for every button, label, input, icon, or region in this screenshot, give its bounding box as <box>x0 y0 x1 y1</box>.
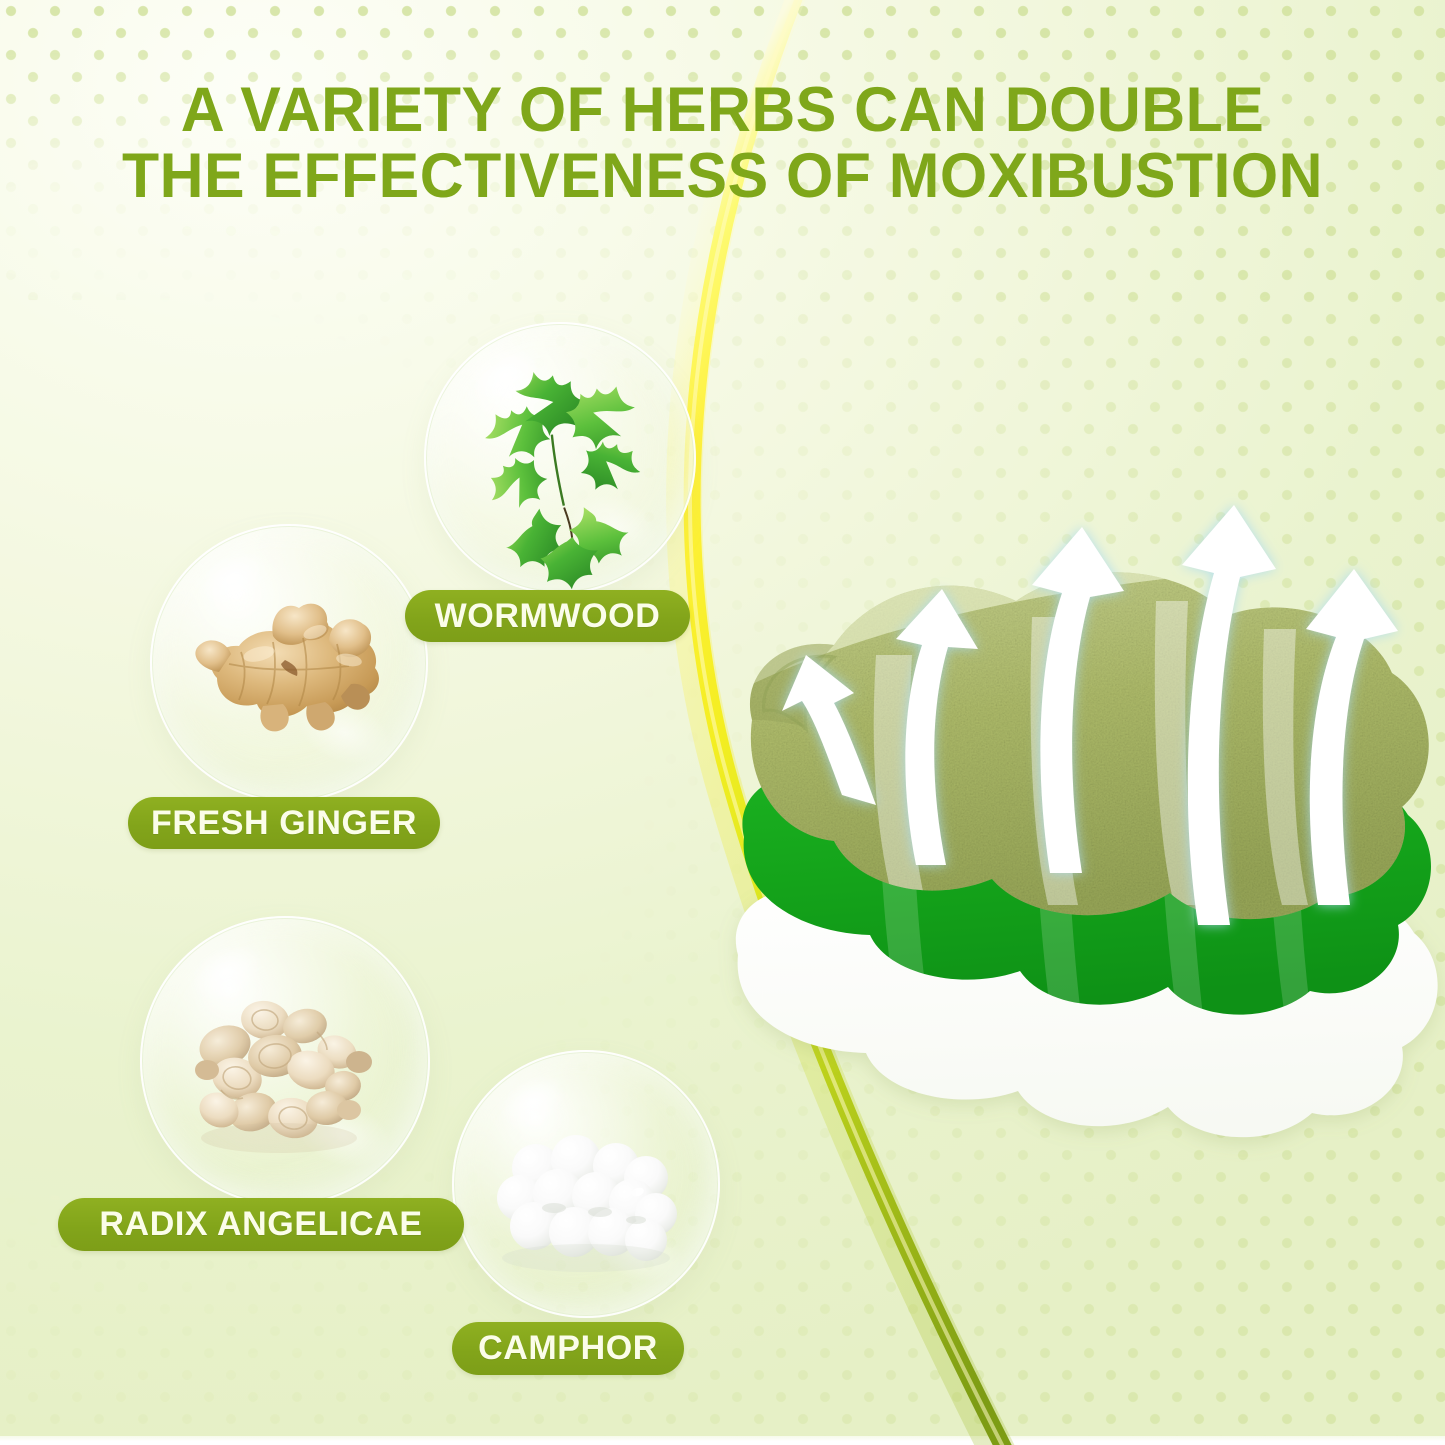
bottom-edge-strip <box>0 1436 1445 1445</box>
bubble-rim <box>424 322 696 594</box>
moxibustion-patch-illustration <box>730 505 1445 1105</box>
poster-canvas: A VARIETY OF HERBS CAN DOUBLE THE EFFECT… <box>0 0 1445 1445</box>
bubble-rim <box>150 524 428 802</box>
ingredient-bubble-ginger[interactable] <box>150 524 428 802</box>
ingredient-label-ginger[interactable]: FRESH GINGER <box>128 797 440 849</box>
headline-line-1: A VARIETY OF HERBS CAN DOUBLE <box>64 78 1381 144</box>
headline: A VARIETY OF HERBS CAN DOUBLE THE EFFECT… <box>0 78 1445 209</box>
ingredient-bubble-wormwood[interactable] <box>424 322 696 594</box>
bubble-rim <box>452 1050 720 1318</box>
ingredient-bubble-camphor[interactable] <box>452 1050 720 1318</box>
ingredient-label-angelica[interactable]: RADIX ANGELICAE <box>58 1198 464 1251</box>
ingredient-label-wormwood[interactable]: WORMWOOD <box>405 590 690 642</box>
bubble-rim <box>140 916 430 1206</box>
headline-line-2: THE EFFECTIVENESS OF MOXIBUSTION <box>64 144 1381 210</box>
ingredient-bubble-angelica[interactable] <box>140 916 430 1206</box>
ingredient-label-camphor[interactable]: CAMPHOR <box>452 1322 684 1375</box>
